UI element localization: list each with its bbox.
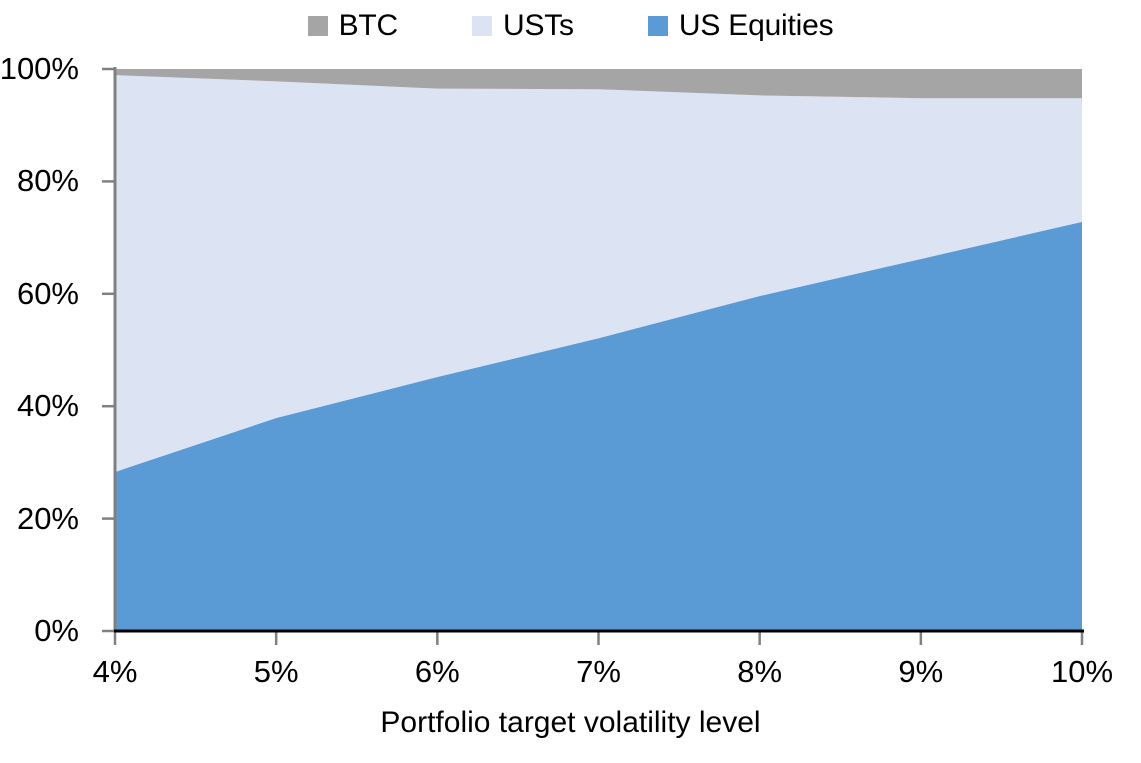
plot-svg	[0, 0, 1141, 763]
x-tick-label: 5%	[254, 656, 299, 687]
y-tick-label: 20%	[17, 503, 79, 534]
x-tick-label: 10%	[1051, 656, 1113, 687]
x-tick-label: 8%	[737, 656, 782, 687]
y-tick-label: 100%	[0, 53, 79, 84]
area-series-group	[115, 69, 1082, 631]
x-tick-label: 4%	[93, 656, 138, 687]
x-tick-label: 7%	[576, 656, 621, 687]
y-tick-label: 60%	[17, 278, 79, 309]
x-axis-title: Portfolio target volatility level	[0, 706, 1141, 740]
y-tick-label: 40%	[17, 390, 79, 421]
plot-area: 100%80%60%40%20%0% 4%5%6%7%8%9%10%	[0, 0, 1141, 763]
y-tick-label: 80%	[17, 165, 79, 196]
x-tick-label: 9%	[898, 656, 943, 687]
y-tick-label: 0%	[34, 615, 79, 646]
stacked-area-chart: BTC USTs US Equities 100%80%60%40%20%0% …	[0, 0, 1141, 763]
x-tick-label: 6%	[415, 656, 460, 687]
